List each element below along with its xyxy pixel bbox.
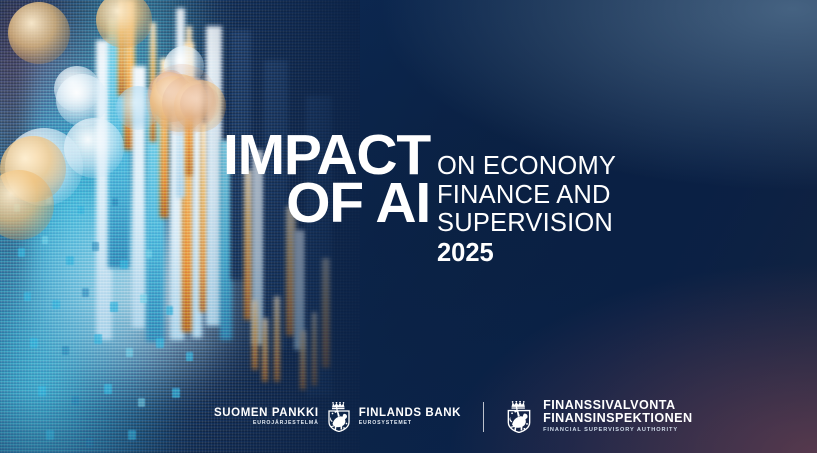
finnish-lion-crest-icon: [326, 402, 352, 432]
financial-supervisory-authority-logo: FINANSSIVALVONTA FINANSINSPEKTIONEN FINA…: [504, 399, 692, 436]
bank-of-finland-logo: SUOMEN PANKKI EUROJÄRJESTELMÄ: [214, 402, 461, 432]
logo-divider: [483, 402, 484, 432]
page-title: IMPACT OF AI: [0, 131, 430, 227]
bank-of-finland-name-fi: SUOMEN PANKKI: [214, 407, 319, 419]
fiva-name-en: FINANCIAL SUPERVISORY AUTHORITY: [543, 425, 692, 435]
bank-of-finland-swedish-lockup: FINLANDS BANK EUROSYSTEMET: [359, 407, 461, 427]
subtitle-line-2: FINANCE AND: [437, 181, 777, 210]
bank-of-finland-name-sv: FINLANDS BANK: [359, 407, 461, 419]
subtitle-line-1: ON ECONOMY: [437, 152, 777, 181]
bank-of-finland-finnish-lockup: SUOMEN PANKKI EUROJÄRJESTELMÄ: [214, 407, 319, 427]
presentation-cover-slide: IMPACT OF AI ON ECONOMY FINANCE AND SUPE…: [0, 0, 817, 453]
logo-bar: SUOMEN PANKKI EUROJÄRJESTELMÄ: [214, 398, 693, 436]
subtitle-line-3: SUPERVISION: [437, 209, 777, 238]
bokeh-circle: [8, 2, 70, 64]
bokeh-circle: [180, 84, 220, 124]
finnish-lion-crest-icon: [504, 401, 534, 433]
subtitle-year: 2025: [437, 239, 777, 268]
fiva-name-sv: FINANSINSPEKTIONEN: [543, 412, 692, 425]
fiva-text-lockup: FINANSSIVALVONTA FINANSINSPEKTIONEN FINA…: [543, 399, 692, 436]
bank-of-finland-sub-fi: EUROJÄRJESTELMÄ: [253, 419, 319, 427]
fiva-name-fi: FINANSSIVALVONTA: [543, 399, 692, 412]
page-subtitle: ON ECONOMY FINANCE AND SUPERVISION 2025: [437, 152, 777, 267]
bank-of-finland-sub-sv: EUROSYSTEMET: [359, 419, 412, 427]
